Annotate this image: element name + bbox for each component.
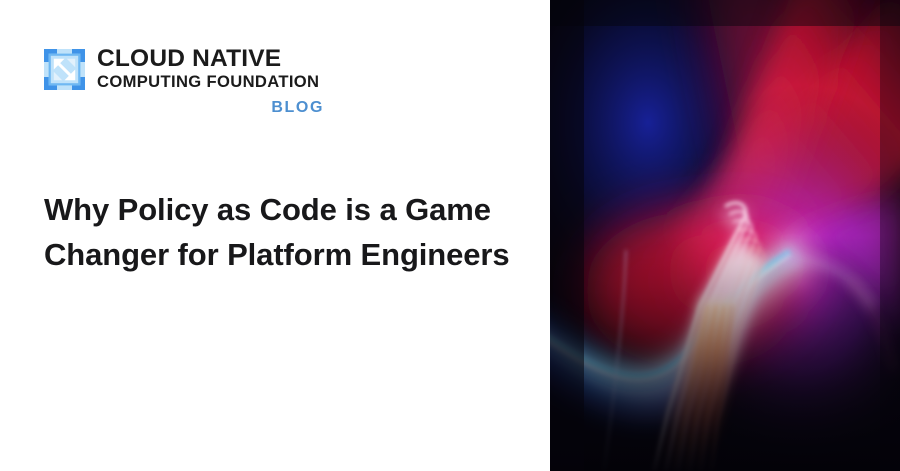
cncf-logo-mark-icon — [44, 49, 85, 90]
logo-row: CLOUD NATIVE COMPUTING FOUNDATION — [44, 46, 324, 92]
hero-image — [550, 0, 900, 471]
post-title: Why Policy as Code is a Game Changer for… — [44, 187, 534, 278]
cncf-blog-social-card: CLOUD NATIVE COMPUTING FOUNDATION BLOG W… — [0, 0, 900, 471]
wordmark-line-cloud-native: CLOUD NATIVE — [97, 46, 319, 71]
blog-section-label: BLOG — [44, 99, 324, 117]
wordmark-line-computing-foundation: COMPUTING FOUNDATION — [97, 73, 319, 92]
left-content-panel: CLOUD NATIVE COMPUTING FOUNDATION BLOG W… — [0, 0, 550, 471]
cncf-wordmark: CLOUD NATIVE COMPUTING FOUNDATION — [97, 46, 319, 92]
cncf-logo-lockup[interactable]: CLOUD NATIVE COMPUTING FOUNDATION BLOG — [44, 46, 324, 117]
